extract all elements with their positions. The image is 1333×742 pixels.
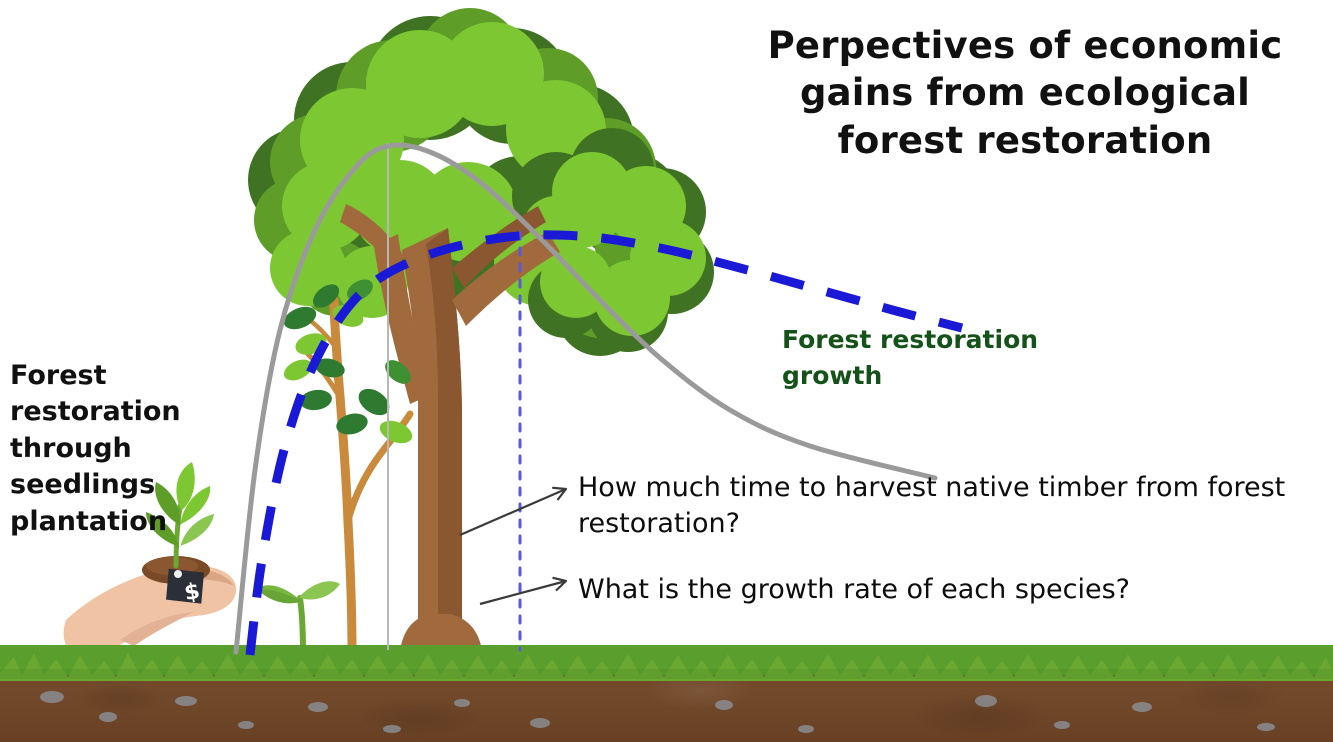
left-caption: Forest restoration through seedlings pla…: [10, 358, 210, 540]
page-title: Perpectives of economic gains from ecolo…: [755, 22, 1295, 164]
forest-restoration-growth-label: Forest restoration growth: [782, 322, 1102, 395]
question-harvest-time: How much time to harvest native timber f…: [578, 470, 1288, 541]
page-title-line3: forest restoration: [755, 117, 1295, 164]
page-title-line2: gains from ecological: [755, 69, 1295, 116]
question-growth-rate: What is the growth rate of each species?: [578, 572, 1288, 608]
growth-label-line2: growth: [782, 358, 1102, 394]
soil-rocks: [40, 691, 1275, 733]
infographic-canvas: $: [0, 0, 1333, 742]
ground-band: Degraded land Ecological-economic forest…: [0, 645, 1333, 742]
grass-layer: [0, 645, 1333, 742]
page-title-line1: Perpectives of economic: [755, 22, 1295, 69]
ground-sprout: [258, 581, 340, 652]
growth-label-line1: Forest restoration: [782, 322, 1102, 358]
